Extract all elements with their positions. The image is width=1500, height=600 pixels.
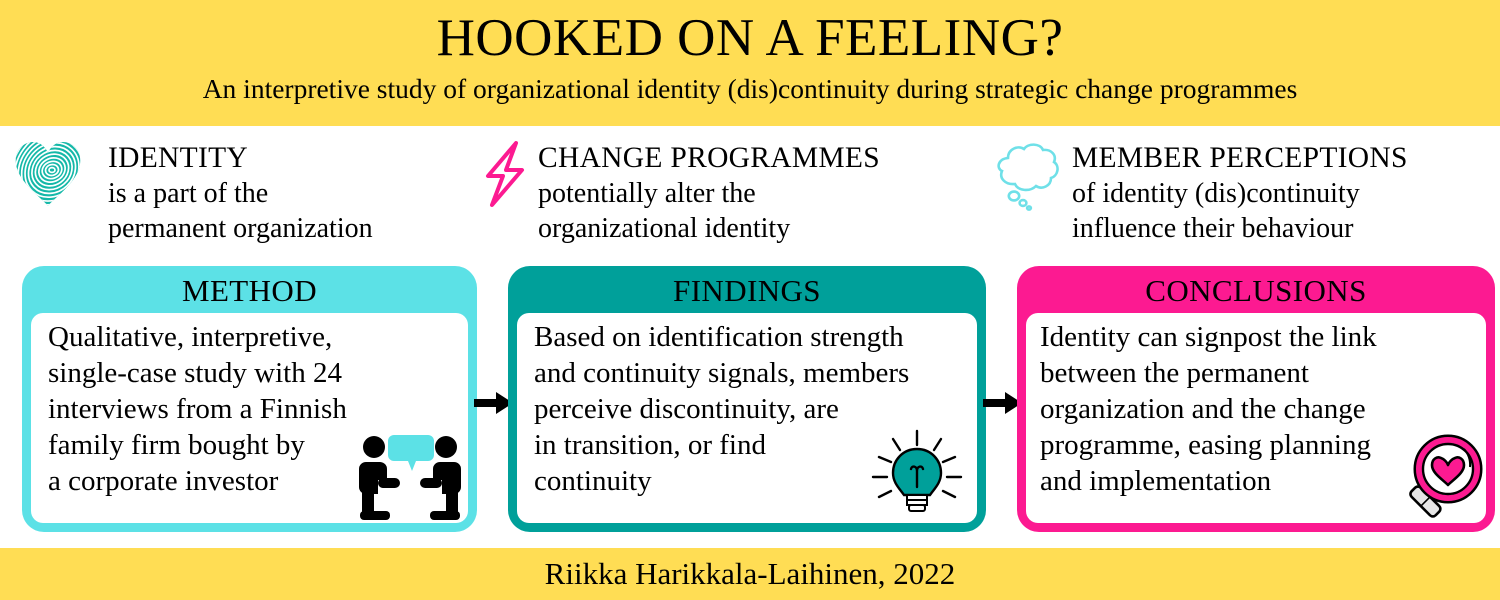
panel-findings-body: Based on identification strength and con… (534, 319, 967, 499)
highlight-change-title: CHANGE PROGRAMMES (538, 140, 880, 176)
panel-findings: FINDINGS Based on identification strengt… (508, 266, 986, 532)
highlight-change-text: CHANGE PROGRAMMES potentially alter the … (538, 140, 880, 246)
panel-method: METHOD Qualitative, interpretive, single… (22, 266, 477, 532)
highlight-member-perceptions: MEMBER PERCEPTIONS of identity (dis)cont… (988, 140, 1493, 260)
header-banner: HOOKED ON A FEELING? An interpretive stu… (0, 0, 1500, 126)
panel-conclusions-title: CONCLUSIONS (1017, 271, 1495, 311)
fingerprint-heart-icon (12, 140, 84, 208)
panel-method-body: Qualitative, interpretive, single-case s… (48, 319, 458, 499)
page-title: HOOKED ON A FEELING? (0, 8, 1500, 68)
page-subtitle: An interpretive study of organizational … (0, 72, 1500, 106)
highlight-members-title: MEMBER PERCEPTIONS (1072, 140, 1408, 176)
highlight-identity-text: IDENTITY is a part of the permanent orga… (108, 140, 373, 246)
highlight-change-programmes: CHANGE PROGRAMMES potentially alter the … (476, 140, 976, 260)
panel-conclusions-body: Identity can signpost the link between t… (1040, 319, 1480, 499)
highlight-identity-body: is a part of the permanent organization (108, 176, 373, 246)
panel-method-inner: Qualitative, interpretive, single-case s… (31, 313, 468, 523)
panel-conclusions-inner: Identity can signpost the link between t… (1026, 313, 1486, 523)
panel-findings-title: FINDINGS (508, 271, 986, 311)
panel-conclusions: CONCLUSIONS Identity can signpost the li… (1017, 266, 1495, 532)
panel-findings-inner: Based on identification strength and con… (517, 313, 977, 523)
highlight-members-text: MEMBER PERCEPTIONS of identity (dis)cont… (1072, 140, 1408, 246)
panel-method-title: METHOD (22, 271, 477, 311)
highlight-identity: IDENTITY is a part of the permanent orga… (12, 140, 472, 260)
author-credit: Riikka Harikkala-Laihinen, 2022 (0, 554, 1500, 594)
footer-banner: Riikka Harikkala-Laihinen, 2022 (0, 548, 1500, 600)
lightning-bolt-icon (476, 140, 532, 208)
highlight-identity-title: IDENTITY (108, 140, 373, 176)
content-area: IDENTITY is a part of the permanent orga… (0, 126, 1500, 548)
thought-bubble-icon (988, 140, 1068, 216)
highlight-members-body: of identity (dis)continuity influence th… (1072, 176, 1408, 246)
highlight-change-body: potentially alter the organizational ide… (538, 176, 880, 246)
